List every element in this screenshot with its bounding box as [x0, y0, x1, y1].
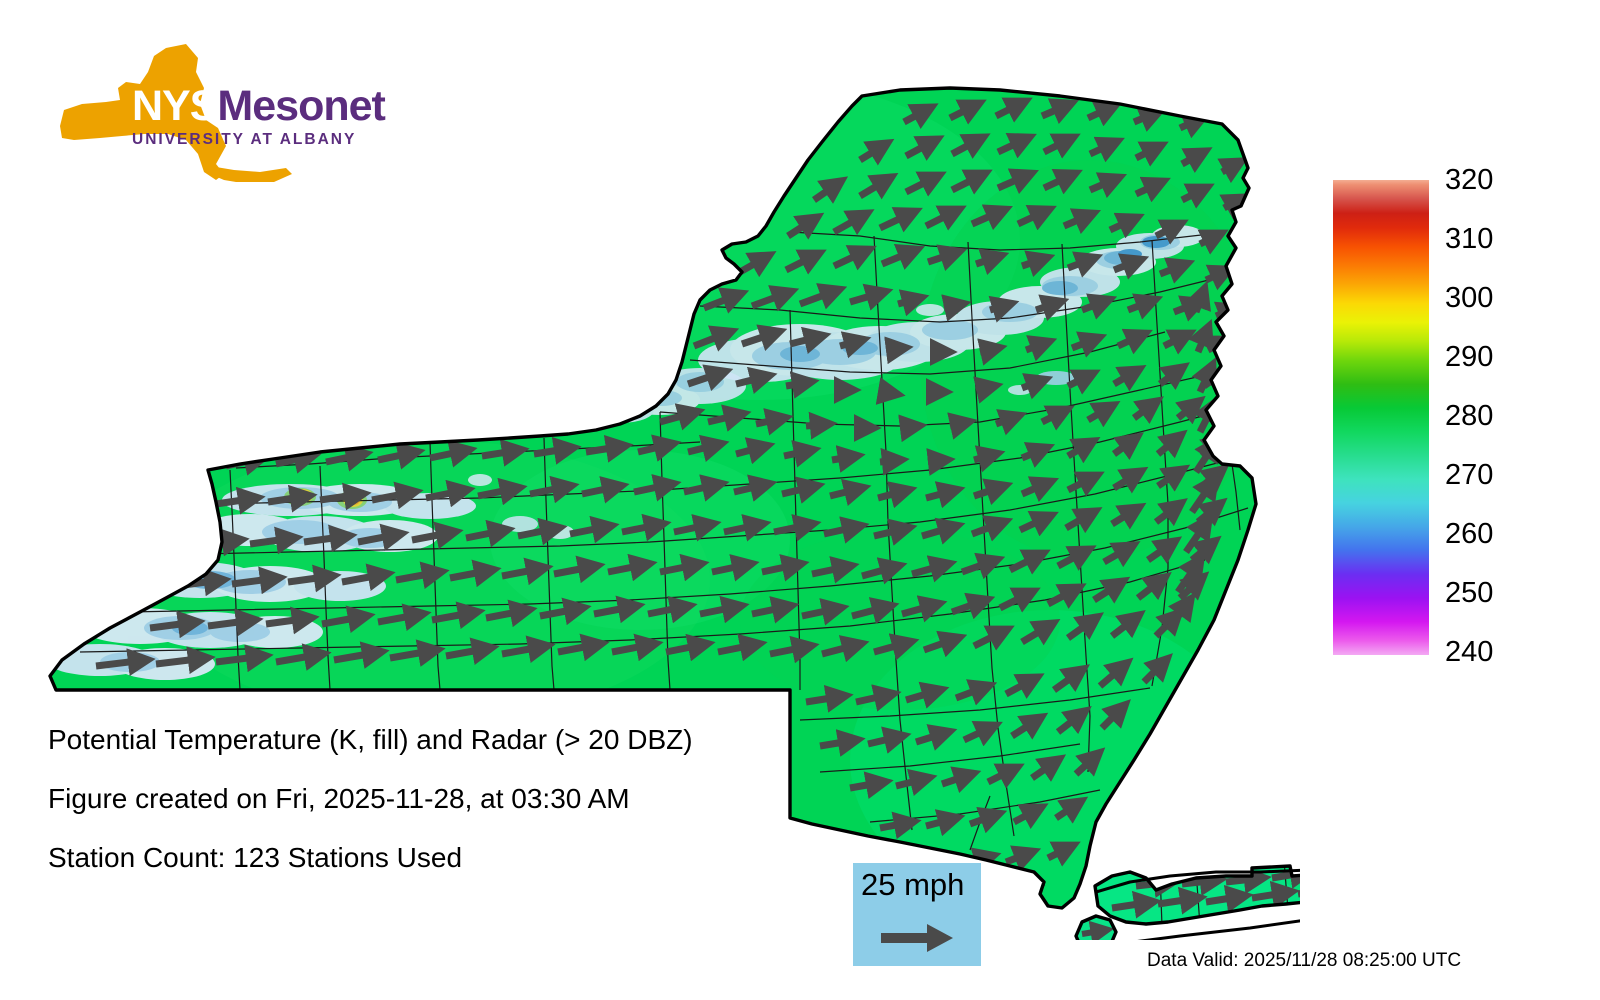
colorbar-tick-260: 260	[1445, 520, 1493, 549]
colorbar-tick-250: 250	[1445, 579, 1493, 608]
wind-vector-layer-staten-island	[1082, 930, 1106, 934]
figure-title: Potential Temperature (K, fill) and Rada…	[48, 724, 693, 756]
colorbar-tick-290: 290	[1445, 343, 1493, 372]
data-valid-timestamp: Data Valid: 2025/11/28 08:25:00 UTC	[1147, 950, 1461, 972]
colorbar-tick-280: 280	[1445, 402, 1493, 431]
figure-canvas: NYSMesonet UNIVERSITY AT ALBANY	[0, 0, 1600, 1000]
station-count-label: Station Count: 123 Stations Used	[48, 842, 462, 874]
colorbar: 320 310 300 290 280 270 260 250 240	[1333, 180, 1573, 660]
figure-created-timestamp: Figure created on Fri, 2025-11-28, at 03…	[48, 783, 630, 815]
colorbar-tick-270: 270	[1445, 461, 1493, 490]
colorbar-tick-240: 240	[1445, 638, 1493, 667]
colorbar-gradient	[1333, 180, 1429, 655]
colorbar-tick-300: 300	[1445, 284, 1493, 313]
wind-reference-vector-key: 25 mph	[853, 863, 981, 966]
colorbar-tick-310: 310	[1445, 225, 1493, 254]
wind-key-label: 25 mph	[861, 867, 964, 903]
wind-arrow-icon	[879, 921, 957, 955]
colorbar-tick-320: 320	[1445, 166, 1493, 195]
